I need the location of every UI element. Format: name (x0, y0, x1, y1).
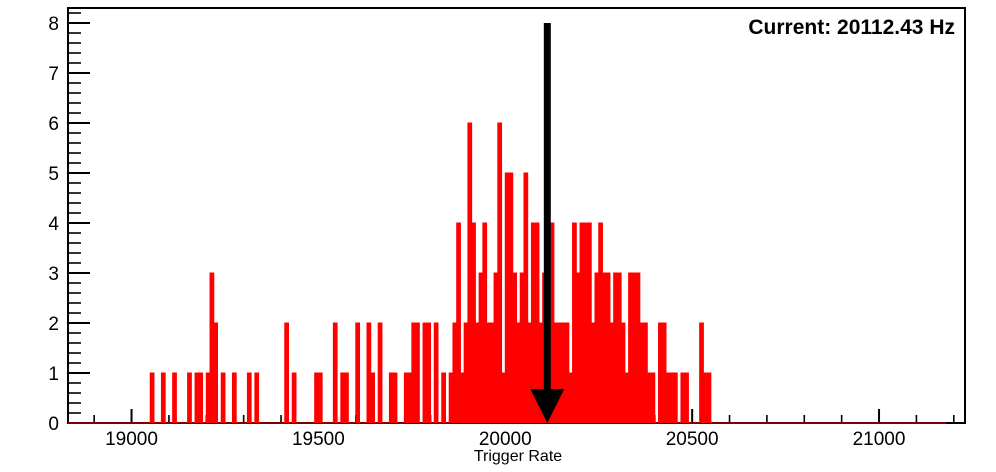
histogram-series (68, 123, 946, 423)
x-tick-label: 20500 (666, 429, 719, 450)
y-tick-label: 6 (48, 114, 59, 135)
x-tick-label: 19500 (292, 429, 345, 450)
y-tick-label: 4 (48, 214, 59, 235)
x-tick-label: 20000 (479, 429, 532, 450)
y-tick-label: 1 (48, 364, 59, 385)
y-tick-label: 3 (48, 264, 59, 285)
y-tick-label: 5 (48, 164, 59, 185)
x-tick-label: 19000 (105, 429, 158, 450)
y-tick-label: 7 (48, 64, 59, 85)
trigger-rate-histogram: 012345678 1900019500200002050021000 Curr… (0, 0, 996, 472)
x-axis-title: Trigger Rate (474, 448, 562, 465)
current-rate-label: Current: 20112.43 Hz (748, 16, 955, 39)
x-tick-label: 21000 (853, 429, 906, 450)
y-axis: 012345678 (48, 13, 90, 435)
y-tick-label: 8 (48, 14, 59, 35)
chart-canvas: 012345678 1900019500200002050021000 Curr… (0, 0, 996, 472)
y-tick-label: 0 (48, 414, 59, 435)
y-tick-label: 2 (48, 314, 59, 335)
